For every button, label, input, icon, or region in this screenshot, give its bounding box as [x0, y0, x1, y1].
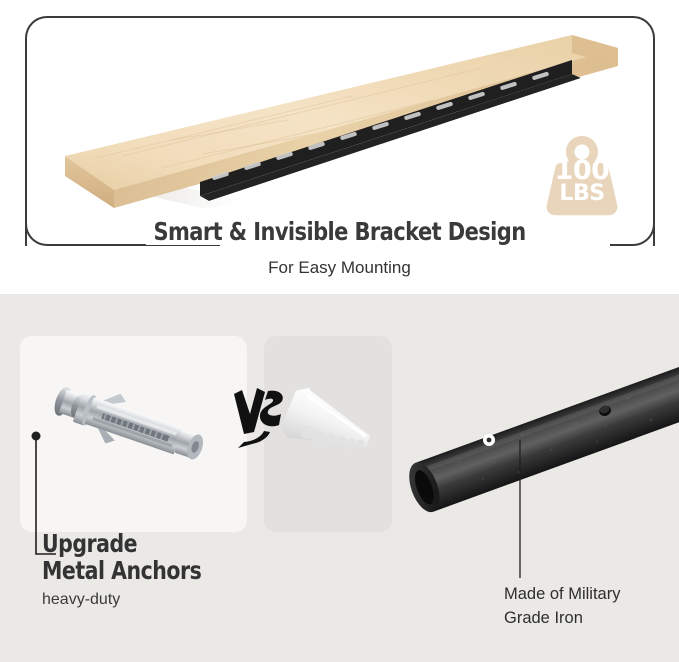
callout-right-line-2: Grade Iron — [504, 607, 620, 631]
callout-right-text: Made of Military Grade Iron — [504, 583, 620, 631]
headline-container: Smart & Invisible Bracket Design — [0, 218, 679, 245]
callout-right-line-1: Made of Military — [504, 583, 620, 607]
weight-capacity-badge: 100 LBS — [534, 130, 630, 218]
callout-left-text: Upgrade Metal Anchors heavy-duty — [42, 530, 236, 609]
weight-badge-unit: LBS — [534, 183, 630, 205]
callout-left-subtitle: heavy-duty — [42, 591, 236, 609]
top-panel-bracket-design: 100 LBS Smart & Invisible Bracket Design… — [0, 0, 679, 294]
page-title: Smart & Invisible Bracket Design — [146, 218, 533, 245]
weight-badge-number: 100 — [534, 157, 630, 184]
callout-left-title-line-2: Metal Anchors — [42, 557, 201, 584]
product-feature-graphic: 100 LBS Smart & Invisible Bracket Design… — [0, 0, 679, 662]
page-subtitle: For Easy Mounting — [0, 258, 679, 278]
callout-leader-right — [490, 440, 550, 585]
bottom-panel-hardware: Upgrade Metal Anchors heavy-duty Made of… — [0, 294, 679, 662]
callout-left-title-line-1: Upgrade — [42, 530, 201, 557]
versus-icon — [228, 384, 290, 454]
